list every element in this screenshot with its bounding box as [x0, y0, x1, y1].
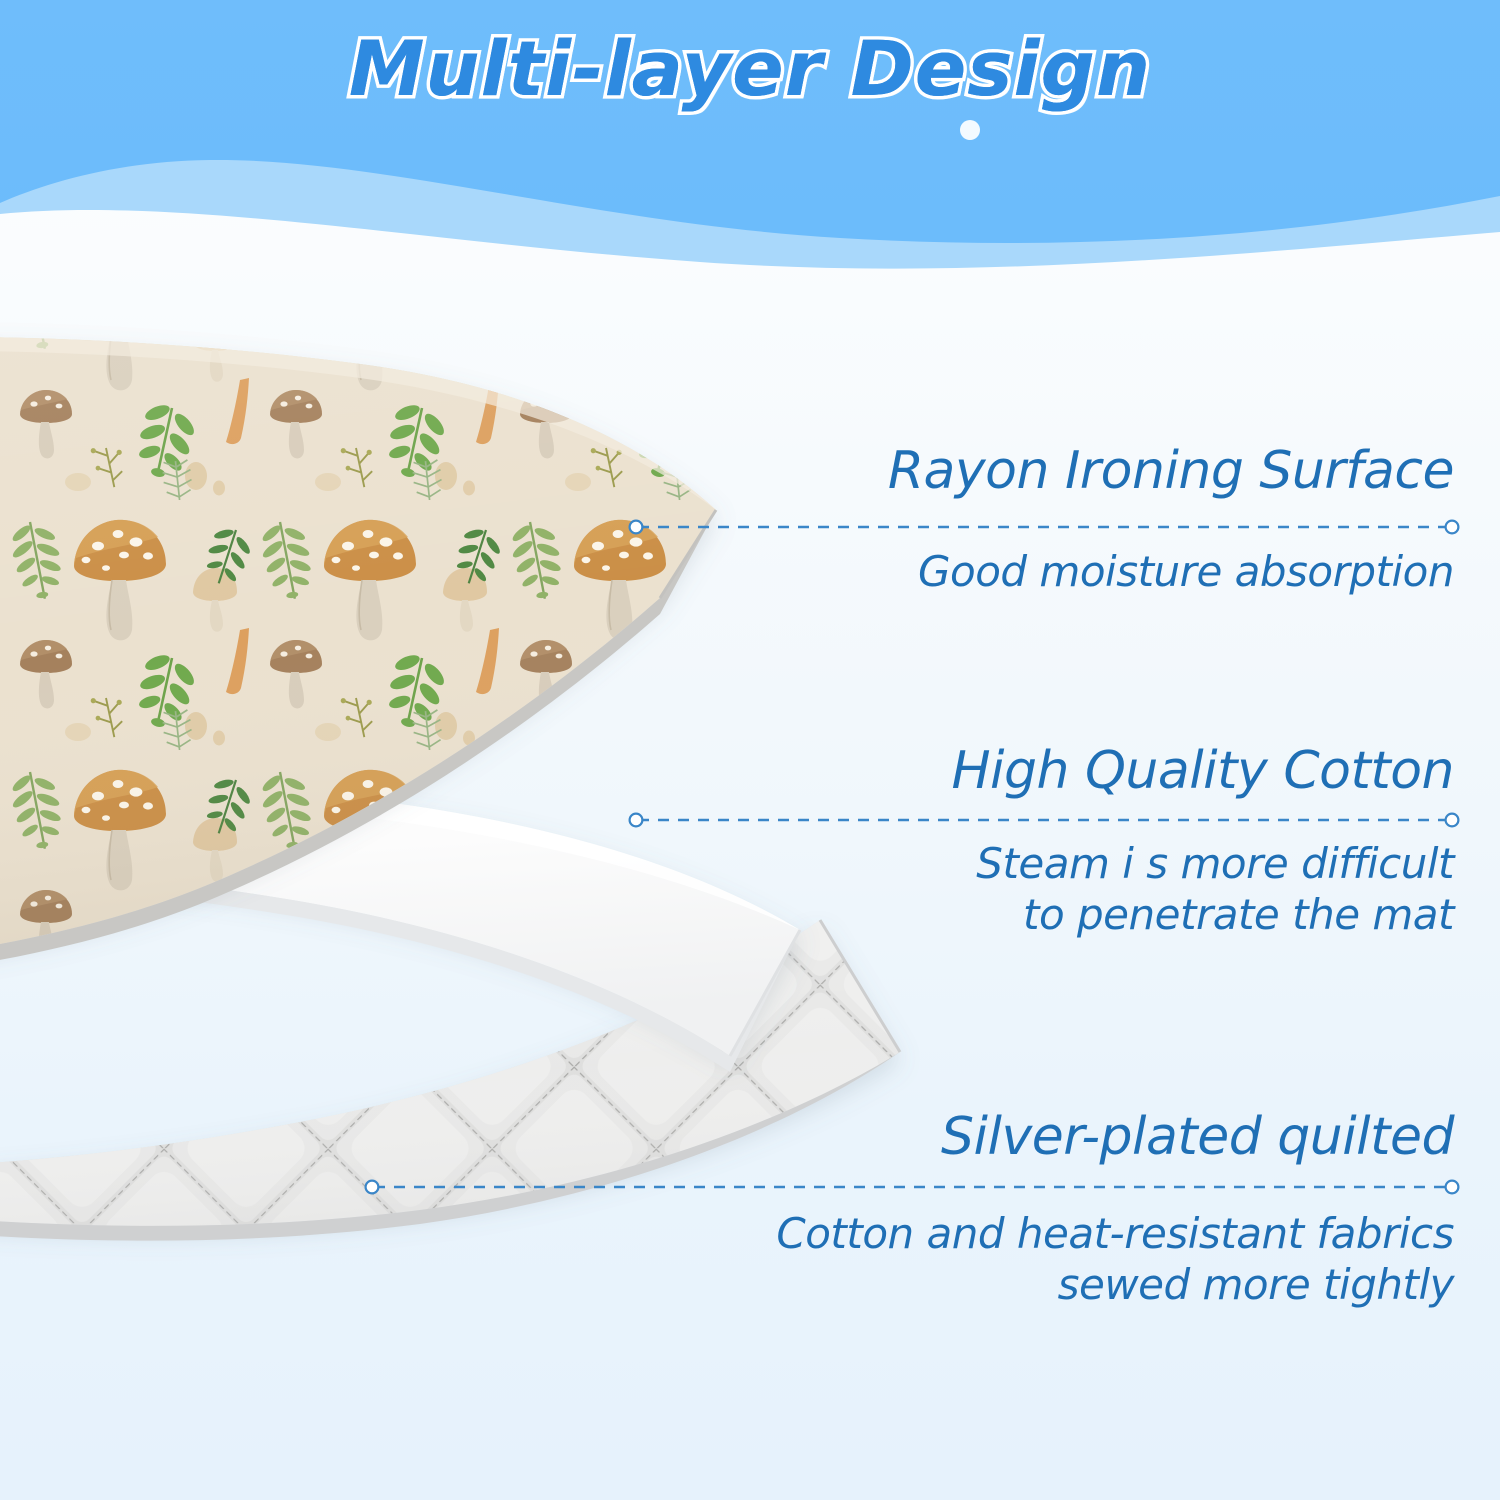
- connector-endpoint-left-cotton: [630, 814, 643, 827]
- callout-subline-silver-1: Cotton and heat-resistant fabrics: [594, 1208, 1454, 1259]
- callout-title-silver: Silver-plated quilted: [694, 1110, 1454, 1165]
- infographic-canvas: Multi-layer Design Multi-layer Design: [0, 0, 1500, 1500]
- callout-high-quality-cotton: High Quality Cotton: [774, 744, 1454, 799]
- connector-endpoint-left-silver: [366, 1181, 379, 1194]
- callout-sub-cotton: Steam i s more difficult to penetrate th…: [774, 838, 1454, 940]
- callout-subline-cotton-2: to penetrate the mat: [774, 889, 1454, 940]
- callout-sub-rayon: Good moisture absorption: [774, 546, 1454, 597]
- callout-sub-silver: Cotton and heat-resistant fabrics sewed …: [594, 1208, 1454, 1310]
- callout-title-rayon: Rayon Ironing Surface: [774, 444, 1454, 499]
- connector-line-silver: [366, 1180, 1458, 1194]
- callout-subline-cotton-1: Steam i s more difficult: [774, 838, 1454, 889]
- connector-line-cotton: [630, 813, 1458, 827]
- page-title-outline: Multi-layer Design: [0, 24, 1500, 113]
- callout-subline-rayon-1: Good moisture absorption: [774, 546, 1454, 597]
- callout-subline-silver-2: sewed more tightly: [594, 1259, 1454, 1310]
- connector-endpoint-right-silver: [1446, 1181, 1459, 1194]
- callout-silver-plated-quilted: Silver-plated quilted: [694, 1110, 1454, 1165]
- callout-title-cotton: High Quality Cotton: [774, 744, 1454, 799]
- connector-line-rayon: [630, 520, 1458, 534]
- connector-endpoint-right-cotton: [1446, 814, 1459, 827]
- callout-rayon-ironing-surface: Rayon Ironing Surface: [774, 444, 1454, 499]
- connector-endpoint-left-rayon: [630, 521, 643, 534]
- connector-endpoint-right-rayon: [1446, 521, 1459, 534]
